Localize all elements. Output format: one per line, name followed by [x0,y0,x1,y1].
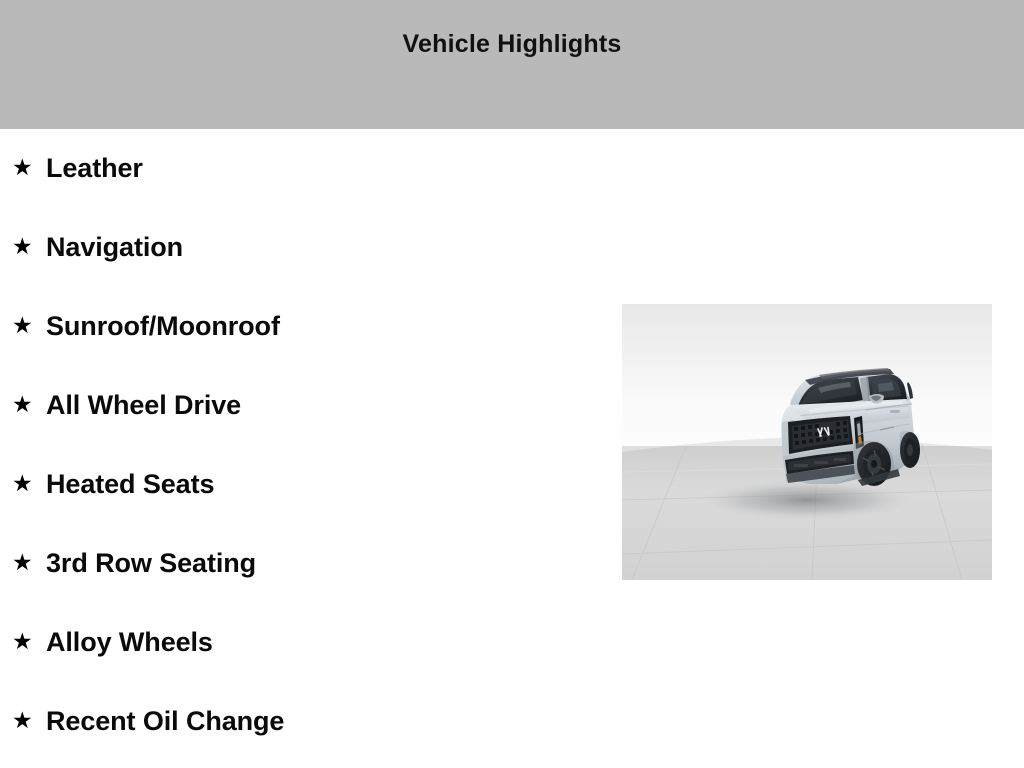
star-bullet-icon: ★ [12,236,34,258]
star-bullet-icon: ★ [12,473,34,495]
star-bullet-icon: ★ [12,631,34,653]
star-bullet-icon: ★ [12,157,34,179]
highlight-label: Navigation [46,234,183,261]
highlight-label: 3rd Row Seating [46,550,256,577]
highlight-label: Sunroof/Moonroof [46,313,280,340]
star-bullet-icon: ★ [12,710,34,732]
highlight-label: Leather [46,155,143,182]
highlight-item-sunroof-moonroof: ★ Sunroof/Moonroof [0,287,620,366]
highlight-label: Heated Seats [46,471,214,498]
vehicle-photo-image [622,304,992,580]
page-title: Vehicle Highlights [403,32,622,57]
highlight-item-recent-oil-change: ★ Recent Oil Change [0,682,620,761]
vehicle-highlights-list: ★ Leather ★ Navigation ★ Sunroof/Moonroo… [0,129,620,761]
highlight-label: Alloy Wheels [46,629,213,656]
highlight-item-3rd-row-seating: ★ 3rd Row Seating [0,524,620,603]
vehicle-highlights-page: Vehicle Highlights ★ Leather ★ Navigatio… [0,0,1024,768]
highlight-item-alloy-wheels: ★ Alloy Wheels [0,603,620,682]
star-bullet-icon: ★ [12,315,34,337]
vehicle-photo[interactable] [622,304,992,580]
highlight-item-leather: ★ Leather [0,129,620,208]
highlight-label: Recent Oil Change [46,708,284,735]
header-bar: Vehicle Highlights [0,0,1024,129]
kia-telluride-illustration [781,368,920,486]
highlight-item-heated-seats: ★ Heated Seats [0,445,620,524]
highlight-label: All Wheel Drive [46,392,241,419]
star-bullet-icon: ★ [12,394,34,416]
highlight-item-navigation: ★ Navigation [0,208,620,287]
star-bullet-icon: ★ [12,552,34,574]
highlight-item-all-wheel-drive: ★ All Wheel Drive [0,366,620,445]
